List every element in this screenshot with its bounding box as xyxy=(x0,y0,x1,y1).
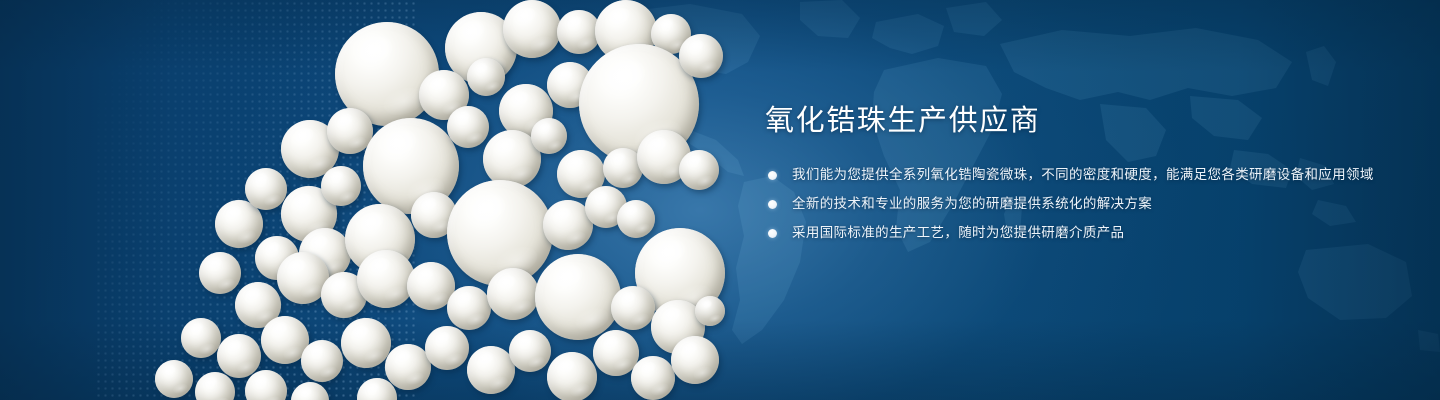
banner-headline: 氧化锆珠生产供应商 xyxy=(765,104,1385,138)
feature-list-item: 采用国际标准的生产工艺，随时为您提供研磨介质产品 xyxy=(765,222,1385,244)
feature-text: 全新的技术和专业的服务为您的研磨提供系统化的解决方案 xyxy=(792,196,1152,211)
feature-list: 我们能为您提供全系列氧化锆陶瓷微珠，不同的密度和硬度，能满足您各类研磨设备和应用… xyxy=(765,164,1385,244)
feature-text: 我们能为您提供全系列氧化锆陶瓷微珠，不同的密度和硬度，能满足您各类研磨设备和应用… xyxy=(792,167,1374,182)
banner-content: 氧化锆珠生产供应商 我们能为您提供全系列氧化锆陶瓷微珠，不同的密度和硬度，能满足… xyxy=(765,104,1385,244)
bullet-dot-icon xyxy=(768,200,777,209)
feature-list-item: 全新的技术和专业的服务为您的研磨提供系统化的解决方案 xyxy=(765,193,1385,215)
feature-text: 采用国际标准的生产工艺，随时为您提供研磨介质产品 xyxy=(792,225,1124,240)
zirconia-beads-photo xyxy=(95,0,715,400)
feature-list-item: 我们能为您提供全系列氧化锆陶瓷微珠，不同的密度和硬度，能满足您各类研磨设备和应用… xyxy=(765,164,1385,186)
bead-cluster xyxy=(95,0,715,400)
bullet-dot-icon xyxy=(768,171,777,180)
hero-banner: 氧化锆珠生产供应商 我们能为您提供全系列氧化锆陶瓷微珠，不同的密度和硬度，能满足… xyxy=(0,0,1440,400)
bullet-dot-icon xyxy=(768,229,777,238)
